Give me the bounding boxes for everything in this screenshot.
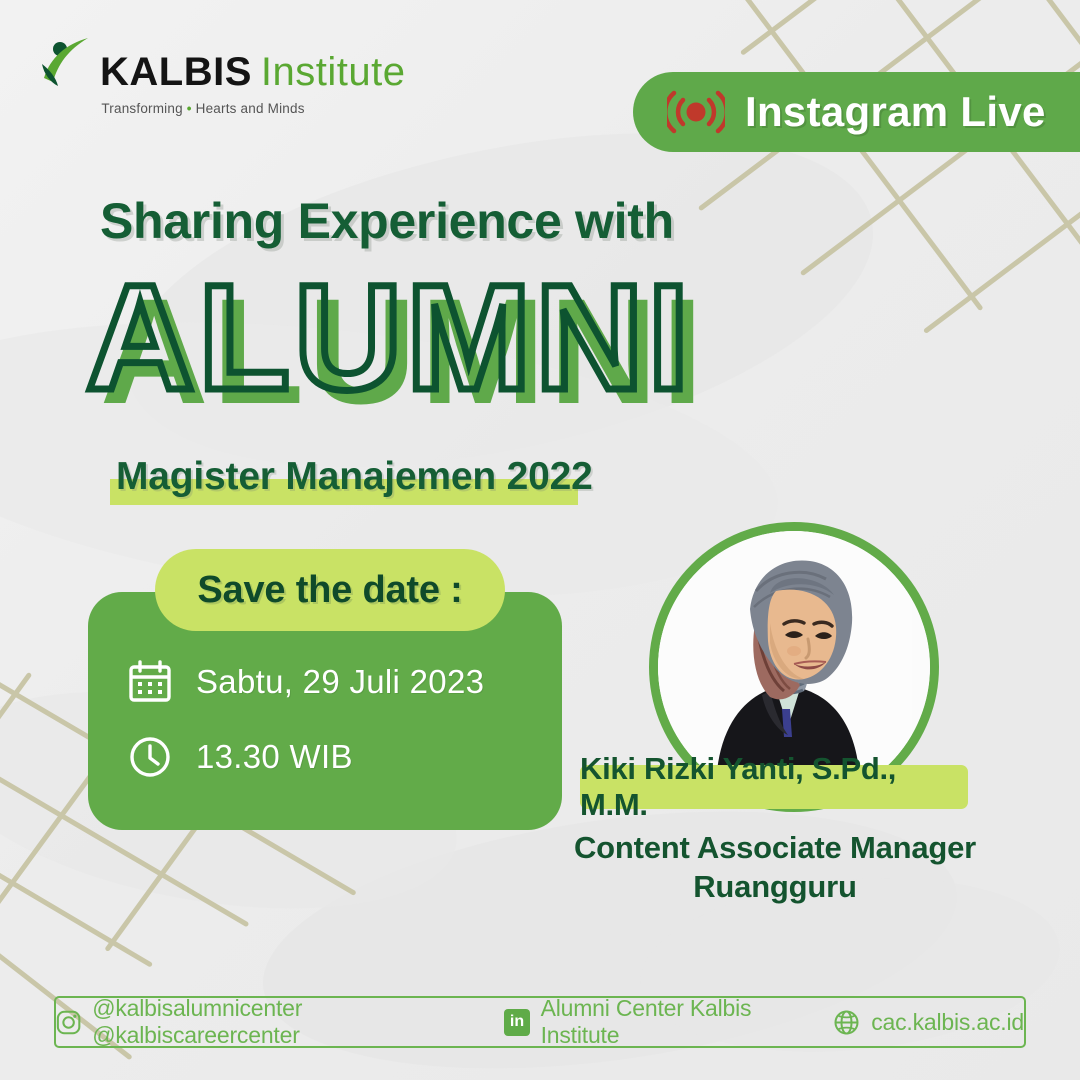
speaker-role-line2: Ruangguru: [560, 867, 990, 906]
footer-website[interactable]: cac.kalbis.ac.id: [833, 1009, 1024, 1036]
instagram-icon: [56, 1009, 81, 1036]
clock-icon: [128, 735, 172, 779]
footer-contact-bar: @kalbisalumnicenter @kalbiscareercenter …: [54, 996, 1026, 1048]
headline-title: ALUMNI: [86, 262, 693, 412]
globe-icon: [833, 1009, 860, 1036]
footer-linkedin[interactable]: in Alumni Center Kalbis Institute: [504, 995, 816, 1049]
event-time-row: 13.30 WIB: [128, 735, 353, 779]
tagline-left: Transforming: [101, 101, 182, 116]
broadcast-icon: [667, 88, 725, 136]
tagline-right: Hearts and Minds: [196, 101, 305, 116]
logo-kalbis-text: KALBIS: [100, 50, 252, 94]
tagline-dot: •: [187, 101, 192, 116]
linkedin-icon: in: [504, 1009, 529, 1036]
event-time-text: 13.30 WIB: [196, 738, 353, 776]
event-date-text: Sabtu, 29 Juli 2023: [196, 663, 484, 701]
poster-canvas: KALBISInstitute Transforming • Hearts an…: [0, 0, 1080, 1080]
logo-tagline: Transforming • Hearts and Minds: [38, 101, 368, 116]
instagram-live-badge: Instagram Live: [633, 72, 1080, 152]
save-the-date-label: Save the date :: [197, 569, 462, 612]
linkedin-name: Alumni Center Kalbis Institute: [541, 995, 817, 1049]
event-date-row: Sabtu, 29 Juli 2023: [128, 660, 484, 704]
speaker-name: Kiki Rizki Yanti, S.Pd., M.M.: [580, 751, 968, 823]
headline-kicker: Sharing Experience with: [100, 192, 674, 250]
calendar-icon: [128, 660, 172, 704]
kalbis-logo-mark: [38, 34, 94, 90]
headline-title-group: ALUMNI ALUMNI: [86, 262, 746, 432]
save-the-date-pill: Save the date :: [155, 549, 505, 631]
footer-instagram[interactable]: @kalbisalumnicenter @kalbiscareercenter: [56, 995, 487, 1049]
instagram-handles: @kalbisalumnicenter @kalbiscareercenter: [92, 995, 487, 1049]
speaker-role: Content Associate Manager Ruangguru: [560, 828, 990, 906]
logo-institute-text: Institute: [261, 50, 406, 94]
speaker-role-line1: Content Associate Manager: [560, 828, 990, 867]
headline-subtitle: Magister Manajemen 2022: [110, 455, 599, 499]
speaker-name-pill: Kiki Rizki Yanti, S.Pd., M.M.: [580, 765, 968, 809]
background-decor: [0, 0, 1080, 1080]
headline-subtitle-group: Magister Manajemen 2022: [110, 455, 599, 499]
kalbis-logo: KALBISInstitute Transforming • Hearts an…: [38, 34, 368, 116]
instagram-live-label: Instagram Live: [745, 88, 1046, 136]
website-url: cac.kalbis.ac.id: [871, 1009, 1024, 1036]
